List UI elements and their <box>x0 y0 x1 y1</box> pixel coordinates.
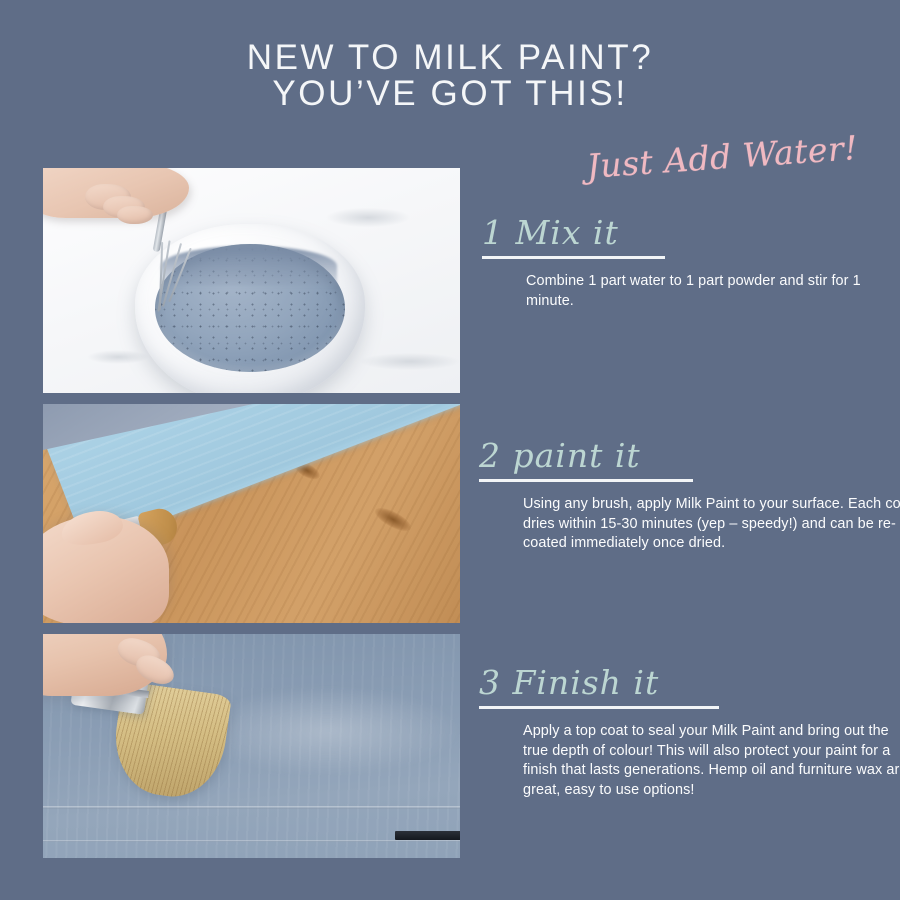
page-header: NEW TO MILK PAINT? YOU’VE GOT THIS! <box>0 40 900 112</box>
step-2-heading: 2 paint it <box>479 437 900 475</box>
step-1-divider <box>482 256 665 259</box>
step-3-divider <box>479 706 719 709</box>
page-title-line-2: YOU’VE GOT THIS! <box>0 76 900 112</box>
drawer-edge-shadow <box>395 831 460 840</box>
step-1-heading: 1 Mix it <box>482 214 882 252</box>
script-tagline: Just Add Water! <box>586 128 860 186</box>
page-title-line-1: NEW TO MILK PAINT? <box>0 40 900 76</box>
wax-sheen-highlight <box>193 686 460 776</box>
step-3-body: Apply a top coat to seal your Milk Paint… <box>523 722 900 800</box>
plank-seam <box>43 840 460 842</box>
step-3-text-column: 3 Finish it Apply a top coat to seal you… <box>479 664 900 800</box>
wood-knot <box>372 503 414 535</box>
step-2-photo-paint-it <box>43 404 460 623</box>
step-3-heading: 3 Finish it <box>479 664 900 702</box>
step-3-photo-finish-it <box>43 634 460 858</box>
plank-seam <box>43 806 460 809</box>
step-2-body: Using any brush, apply Milk Paint to you… <box>523 495 900 554</box>
hand-holding-whisk <box>43 168 189 218</box>
step-1-text-column: 1 Mix it Combine 1 part water to 1 part … <box>482 214 882 311</box>
step-1-body: Combine 1 part water to 1 part powder an… <box>526 272 871 311</box>
step-2-text-column: 2 paint it Using any brush, apply Milk P… <box>479 437 900 554</box>
finger <box>117 206 153 224</box>
step-2-divider <box>479 479 693 482</box>
step-1-photo-mix-it <box>43 168 460 393</box>
